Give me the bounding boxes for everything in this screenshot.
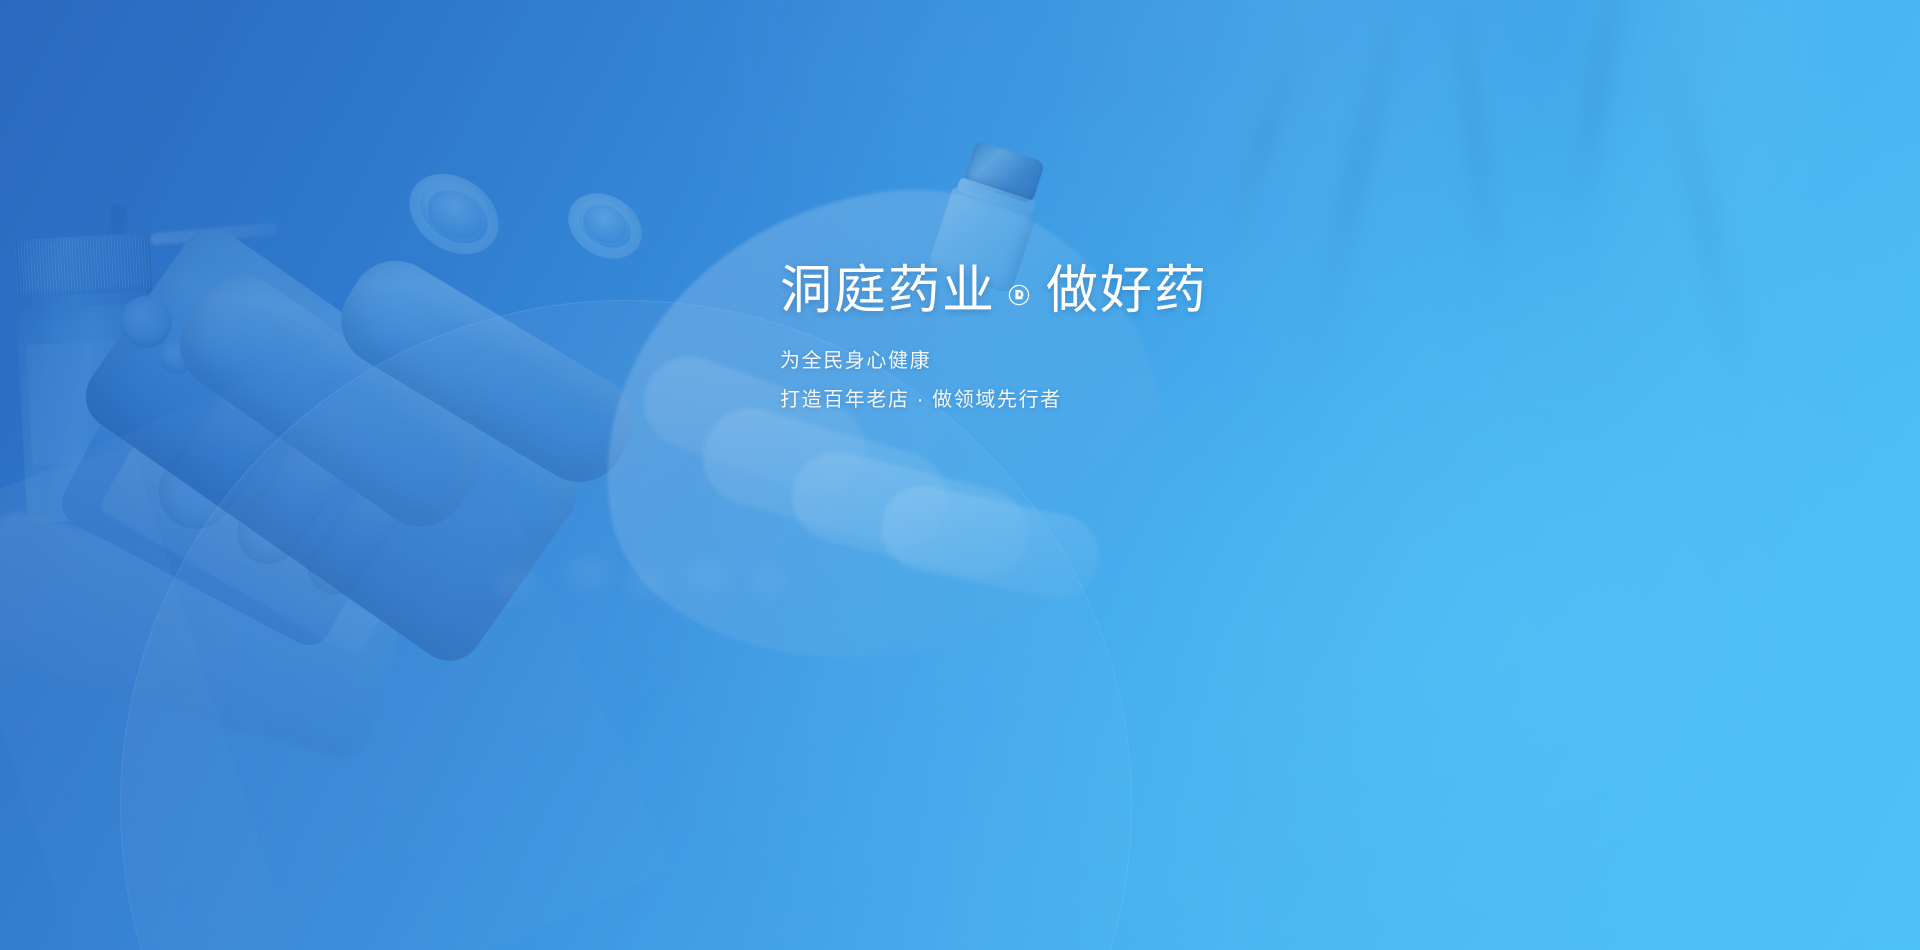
banner-subtitle: 为全民身心健康 打造百年老店 · 做领域先行者 (780, 342, 1540, 420)
brand-slogan: 做好药 (1046, 262, 1208, 320)
registered-trademark-badge-icon (1008, 284, 1030, 306)
banner-headline: 洞庭药业 做好药 (780, 262, 1540, 320)
subtitle-line-1: 为全民身心健康 (780, 342, 1540, 381)
banner-content: 洞庭药业 做好药 为全民身心健康 打造百年老店 · 做领域先行者 (780, 262, 1540, 420)
subtitle-line-2: 打造百年老店 · 做领域先行者 (780, 381, 1540, 420)
blue-glow-overlay (0, 0, 1920, 950)
hero-banner: 洞庭药业 做好药 为全民身心健康 打造百年老店 · 做领域先行者 (0, 0, 1920, 950)
brand-name: 洞庭药业 (780, 262, 996, 320)
